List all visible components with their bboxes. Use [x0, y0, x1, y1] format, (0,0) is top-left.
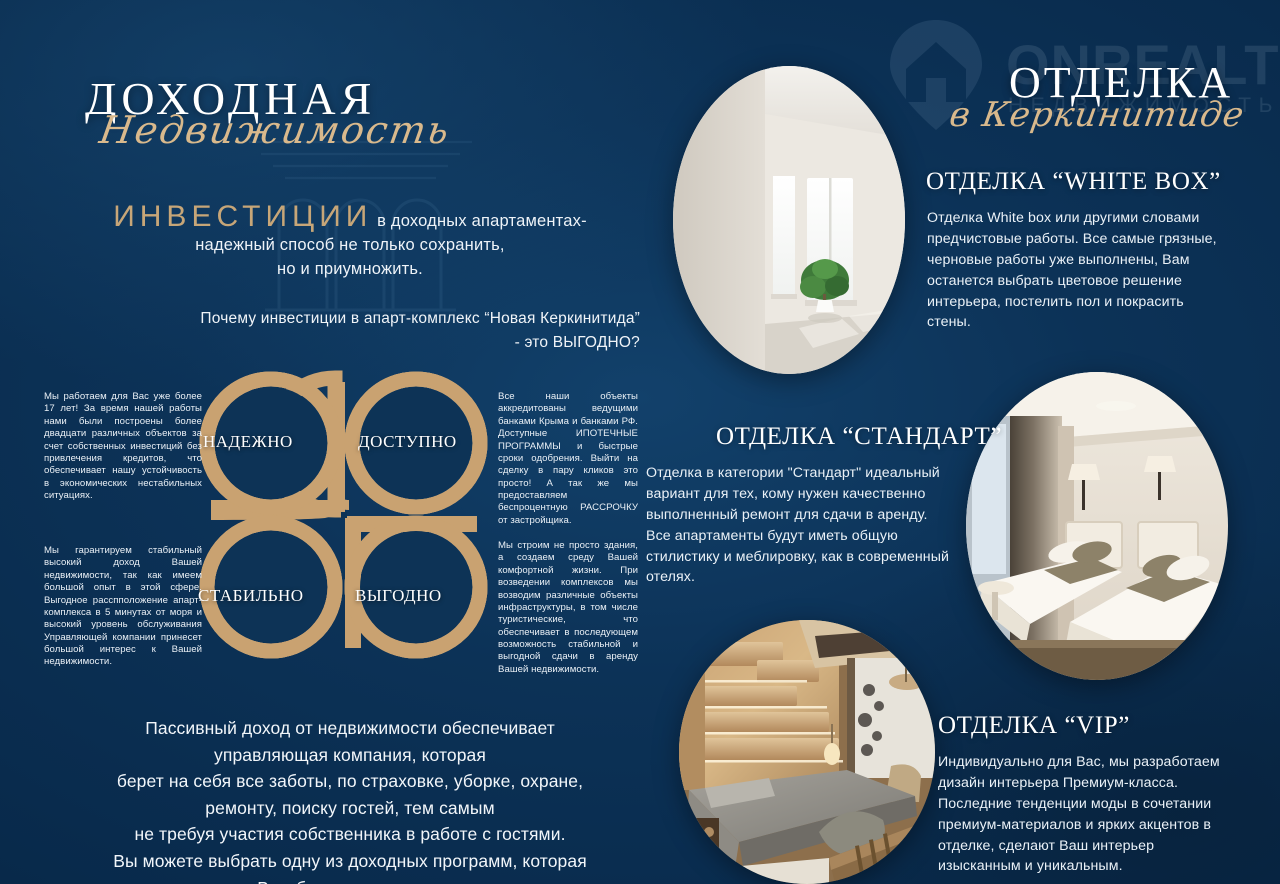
section-heading-vip: ОТДЕЛКА “VIP”: [938, 712, 1130, 740]
investment-line2: надежный способ не только сохранить,: [60, 234, 640, 258]
why-line-1: Почему инвестиции в апарт-комплекс “Нова…: [60, 307, 640, 331]
petal-label-available: ДОСТУПНО: [358, 432, 457, 452]
micro-text-experience: Мы работаем для Вас уже более 17 лет! За…: [44, 391, 202, 502]
section-heading-standart: ОТДЕЛКА “СТАНДАРТ”: [716, 423, 1002, 451]
petal-label-profitable: ВЫГОДНО: [355, 586, 442, 606]
investment-tail: в доходных апартаментах-: [372, 212, 586, 230]
why-invest-question: Почему инвестиции в апарт-комплекс “Нова…: [60, 307, 640, 355]
section-body-standart: Отделка в категории "Стандарт" идеальный…: [646, 463, 956, 588]
benefits-petal-diagram: НАДЕЖНО ДОСТУПНО СТАБИЛЬНО ВЫГОДНО: [199, 370, 489, 660]
photo-standart-room: [966, 372, 1228, 680]
section-heading-white-box: ОТДЕЛКА “WHITE BOX”: [926, 168, 1221, 196]
micro-text-accreditation: Все наши объекты аккредитованы ведущими …: [498, 391, 638, 527]
right-title-script: в Керкинитиде: [947, 95, 1247, 135]
brochure-page: ONREALT НЕДВИЖИМОСТЬ ДОХОДНАЯ Недвижимос…: [0, 0, 1280, 884]
section-body-vip: Индивидуально для Вас, мы разработаем ди…: [938, 752, 1238, 877]
micro-text-guarantee: Мы гарантируем стабильный высокий доход …: [44, 545, 202, 669]
petal-rings-icon: [199, 370, 489, 660]
petal-label-stable: СТАБИЛЬНО: [198, 586, 304, 606]
section-body-white-box: Отделка White box или другими словами пр…: [927, 208, 1227, 333]
petal-label-reliable: НАДЕЖНО: [203, 432, 293, 452]
photo-vip-bedroom: [679, 620, 935, 884]
why-line-2: - это ВЫГОДНО?: [60, 331, 640, 355]
left-title-script: Недвижимость: [97, 108, 454, 152]
investment-intro: ИНВЕСТИЦИИ в доходных апартаментах- наде…: [60, 200, 640, 282]
micro-text-infrastructure: Мы строим не просто здания, а создаем ср…: [498, 540, 638, 676]
investment-line3: но и приумножить.: [60, 258, 640, 282]
photo-white-box-room: [673, 66, 905, 374]
investment-keyword: ИНВЕСТИЦИИ: [113, 200, 372, 233]
passive-income-paragraph: Пассивный доход от недвижимости обеспечи…: [40, 715, 660, 884]
